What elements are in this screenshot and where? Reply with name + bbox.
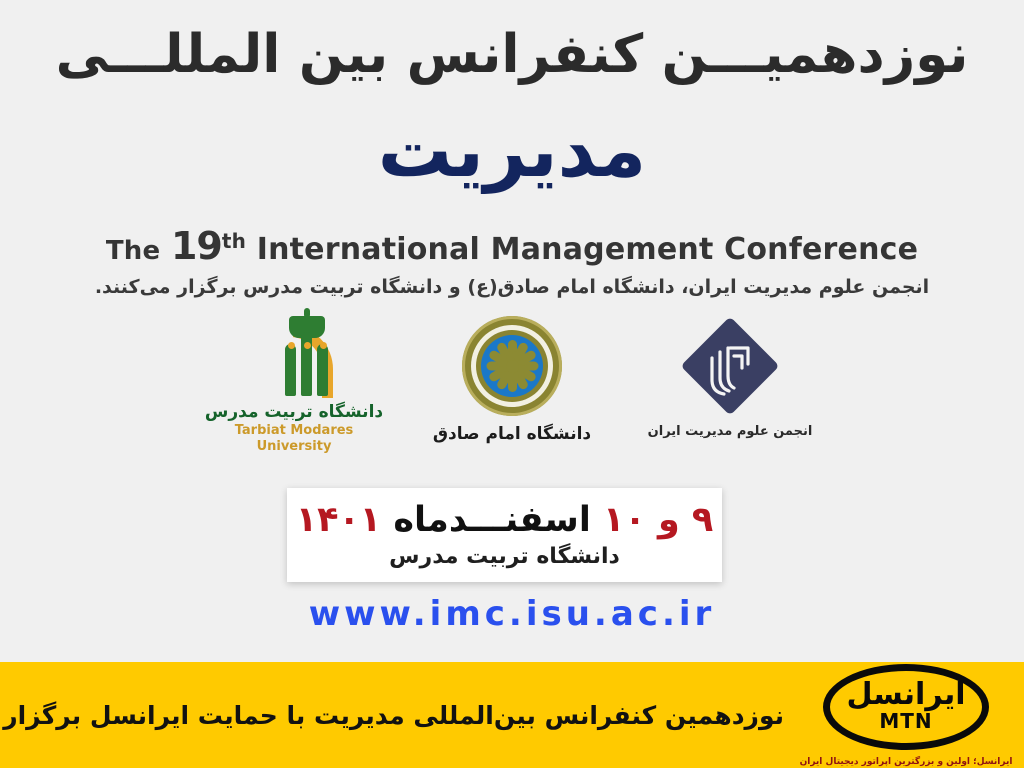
brand-name-en: MTN (879, 711, 932, 731)
date-day: ۹ و ۱۰ (603, 500, 713, 540)
brand-tagline: ایرانسل؛ اولین و بزرگترین اپراتور دیجیتا… (800, 757, 1013, 767)
english-title: The 19th International Management Confer… (0, 224, 1024, 268)
irancell-mtn-logo: ایرانسل MTN ایرانسل؛ اولین و بزرگترین اپ… (788, 662, 1024, 768)
logo-tarbiat-modares-university: دانشگاه تربیت مدرس Tarbiat Modares Unive… (214, 316, 374, 476)
conference-poster: نوزدهمیـــن کنفرانس بین المللـــی مدیریت… (0, 0, 1024, 768)
rosette-center (506, 360, 519, 373)
date-venue-box: ۹ و ۱۰ اسفنـــدماه ۱۴۰۱ دانشگاه تربیت مد… (287, 488, 722, 582)
website-url[interactable]: www.imc.isu.ac.ir (0, 594, 1024, 634)
venue-name: دانشگاه تربیت مدرس (389, 544, 620, 569)
organizer-logos-row: دانشگاه تربیت مدرس Tarbiat Modares Unive… (0, 316, 1024, 476)
management-association-diamond-icon (682, 318, 778, 414)
english-title-rest: International Management Conference (257, 232, 918, 267)
brand-name-fa: ایرانسل (846, 680, 965, 710)
english-title-number: 19 (171, 224, 222, 268)
organizers-line: انجمن علوم مدیریت ایران، دانشگاه امام صا… (0, 276, 1024, 298)
page-title: نوزدهمیـــن کنفرانس بین المللـــی (0, 24, 1024, 87)
date-year: ۱۴۰۱ (296, 500, 381, 540)
sponsor-message: نوزدهمین کنفرانس بین‌المللی مدیریت با حم… (0, 701, 788, 730)
tarbiat-modares-emblem-icon (239, 316, 349, 398)
logo-label-en-line2: University (235, 439, 354, 455)
irancell-oval-icon: ایرانسل MTN (823, 664, 989, 750)
date-month: اسفنـــدماه (393, 500, 590, 540)
imam-sadiq-emblem-icon (462, 316, 562, 416)
logo-label-fa: دانشگاه امام صادق (433, 424, 591, 444)
logo-label-en: Tarbiat Modares University (235, 423, 354, 456)
logo-label-fa: دانشگاه تربیت مدرس (205, 402, 383, 422)
english-title-ordinal: th (222, 229, 246, 253)
english-title-the: The (106, 236, 160, 266)
logo-management-sciences-association: انجمن علوم مدیریت ایران (650, 316, 810, 476)
sponsor-banner: ایرانسل MTN ایرانسل؛ اولین و بزرگترین اپ… (0, 662, 1024, 768)
conference-topic-title: مدیریت (0, 112, 1024, 192)
conference-date: ۹ و ۱۰ اسفنـــدماه ۱۴۰۱ (296, 501, 714, 540)
logo-label-en-line1: Tarbiat Modares (235, 423, 354, 439)
logo-label-fa: انجمن علوم مدیریت ایران (648, 424, 813, 439)
logo-imam-sadiq-university: دانشگاه امام صادق (432, 316, 592, 476)
